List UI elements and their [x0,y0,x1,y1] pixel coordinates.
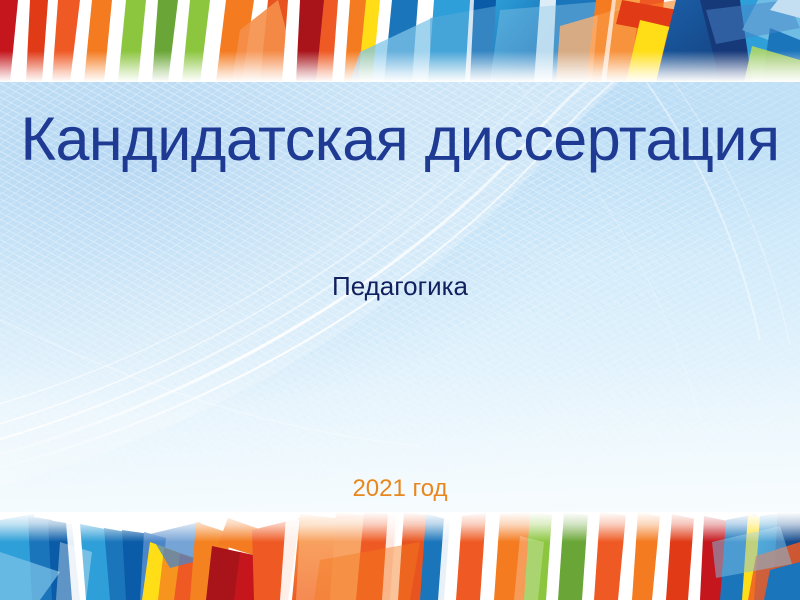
bottom-decorative-border [0,512,800,600]
slide-subtitle[interactable]: Педагогика [0,271,800,302]
top-decorative-border [0,0,800,82]
presentation-title-slide: Кандидатская диссертация Педагогика 2021… [0,0,800,600]
slide-year[interactable]: 2021 год [0,475,800,503]
slide-title[interactable]: Кандидатская диссертация [0,107,800,171]
